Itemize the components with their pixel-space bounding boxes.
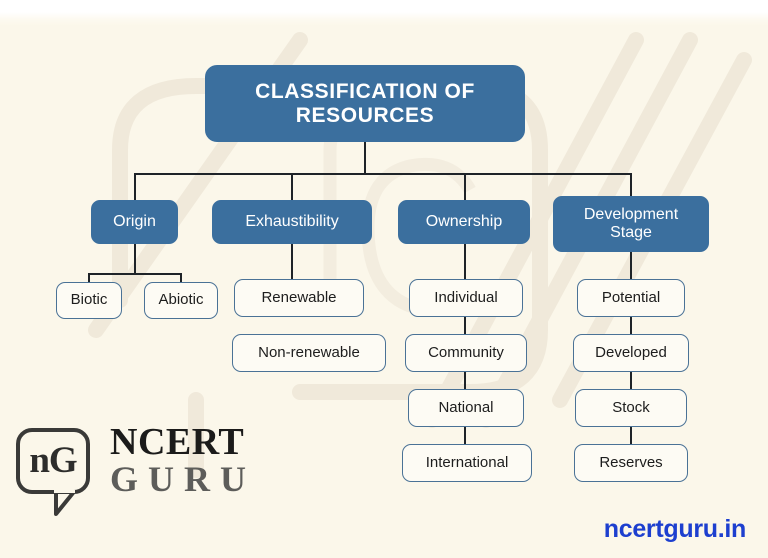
leaf-label-international: International <box>426 455 509 472</box>
logo-mark-text: nG <box>29 442 76 479</box>
leaf-label-abiotic: Abiotic <box>158 292 203 309</box>
diagram-canvas: CLASSIFICATION OF RESOURCES Origin Exhau… <box>0 0 768 558</box>
category-label-ownership: Ownership <box>426 213 502 231</box>
brand-name-bottom: GURU <box>110 462 256 497</box>
leaf-node-non-renewable[interactable]: Non-renewable <box>232 334 386 372</box>
speech-bubble-icon: nG <box>16 428 90 494</box>
connector-drop-ownership <box>464 173 466 200</box>
leaf-node-international[interactable]: International <box>402 444 532 482</box>
connector-individual-community <box>464 317 466 334</box>
connector-drop-exhaustibility <box>291 173 293 200</box>
leaf-node-developed[interactable]: Developed <box>573 334 689 372</box>
connector-root-stem <box>364 142 366 174</box>
brand-name-top: NCERT <box>110 424 256 460</box>
leaf-node-stock[interactable]: Stock <box>575 389 687 427</box>
leaf-label-potential: Potential <box>602 290 660 307</box>
category-label-development-line2: Stage <box>610 224 652 241</box>
leaf-node-biotic[interactable]: Biotic <box>56 282 122 319</box>
leaf-label-biotic: Biotic <box>71 292 108 309</box>
leaf-node-renewable[interactable]: Renewable <box>234 279 364 317</box>
leaf-node-abiotic[interactable]: Abiotic <box>144 282 218 319</box>
leaf-label-non-renewable: Non-renewable <box>258 345 360 362</box>
leaf-node-potential[interactable]: Potential <box>577 279 685 317</box>
category-label-exhaustibility: Exhaustibility <box>245 213 338 231</box>
connector-development-stem <box>630 252 632 280</box>
brand-wordmark: NCERT GURU <box>110 424 256 497</box>
connector-potential-developed <box>630 317 632 334</box>
category-node-exhaustibility[interactable]: Exhaustibility <box>212 200 372 244</box>
root-node[interactable]: CLASSIFICATION OF RESOURCES <box>205 65 525 142</box>
leaf-label-stock: Stock <box>612 400 650 417</box>
connector-national-international <box>464 427 466 444</box>
leaf-node-national[interactable]: National <box>408 389 524 427</box>
category-node-ownership[interactable]: Ownership <box>398 200 530 244</box>
connector-ownership-stem <box>464 244 466 280</box>
connector-drop-origin <box>134 173 136 200</box>
leaf-node-reserves[interactable]: Reserves <box>574 444 688 482</box>
connector-bus <box>135 173 631 175</box>
connector-developed-stock <box>630 372 632 389</box>
leaf-node-community[interactable]: Community <box>405 334 527 372</box>
connector-origin-stem <box>134 244 136 274</box>
category-label-development-line1: Development <box>584 206 678 223</box>
category-node-origin[interactable]: Origin <box>91 200 178 244</box>
site-url[interactable]: ncertguru.in <box>604 515 746 544</box>
leaf-label-community: Community <box>428 345 504 362</box>
leaf-label-individual: Individual <box>434 290 497 307</box>
root-title-line1: CLASSIFICATION OF <box>255 80 475 103</box>
leaf-label-renewable: Renewable <box>261 290 336 307</box>
leaf-label-developed: Developed <box>595 345 667 362</box>
brand-logo: nG NCERT GURU <box>16 424 256 497</box>
connector-origin-bus <box>89 273 181 275</box>
leaf-label-reserves: Reserves <box>599 455 662 472</box>
category-label-origin: Origin <box>113 213 156 231</box>
leaf-label-national: National <box>438 400 493 417</box>
connector-stock-reserves <box>630 427 632 444</box>
root-title-line2: RESOURCES <box>296 104 434 127</box>
category-node-development-stage[interactable]: Development Stage <box>553 196 709 252</box>
connector-exhaustibility-stem <box>291 244 293 280</box>
connector-community-national <box>464 372 466 389</box>
leaf-node-individual[interactable]: Individual <box>409 279 523 317</box>
